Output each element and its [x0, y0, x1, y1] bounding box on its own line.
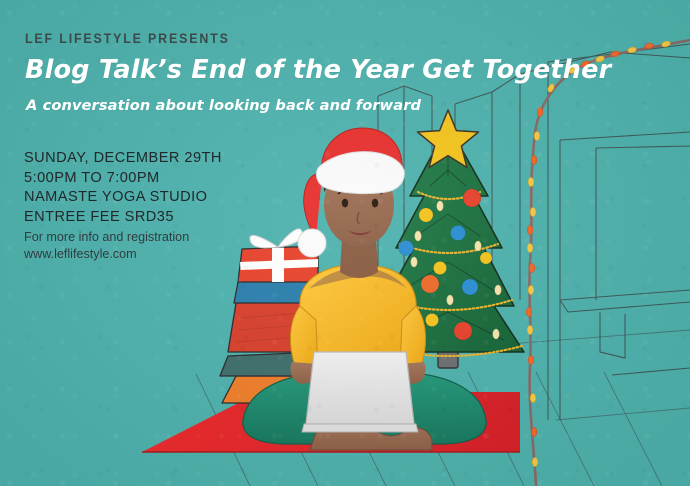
- illustration-scene: [0, 0, 690, 486]
- string-lights: [526, 40, 690, 486]
- bench-table: [560, 290, 690, 420]
- event-poster: LEF LIFESTYLE PRESENTS Blog Talk’s End o…: [0, 0, 690, 486]
- laptop: [302, 352, 418, 432]
- gift-bow-icon: [250, 229, 302, 248]
